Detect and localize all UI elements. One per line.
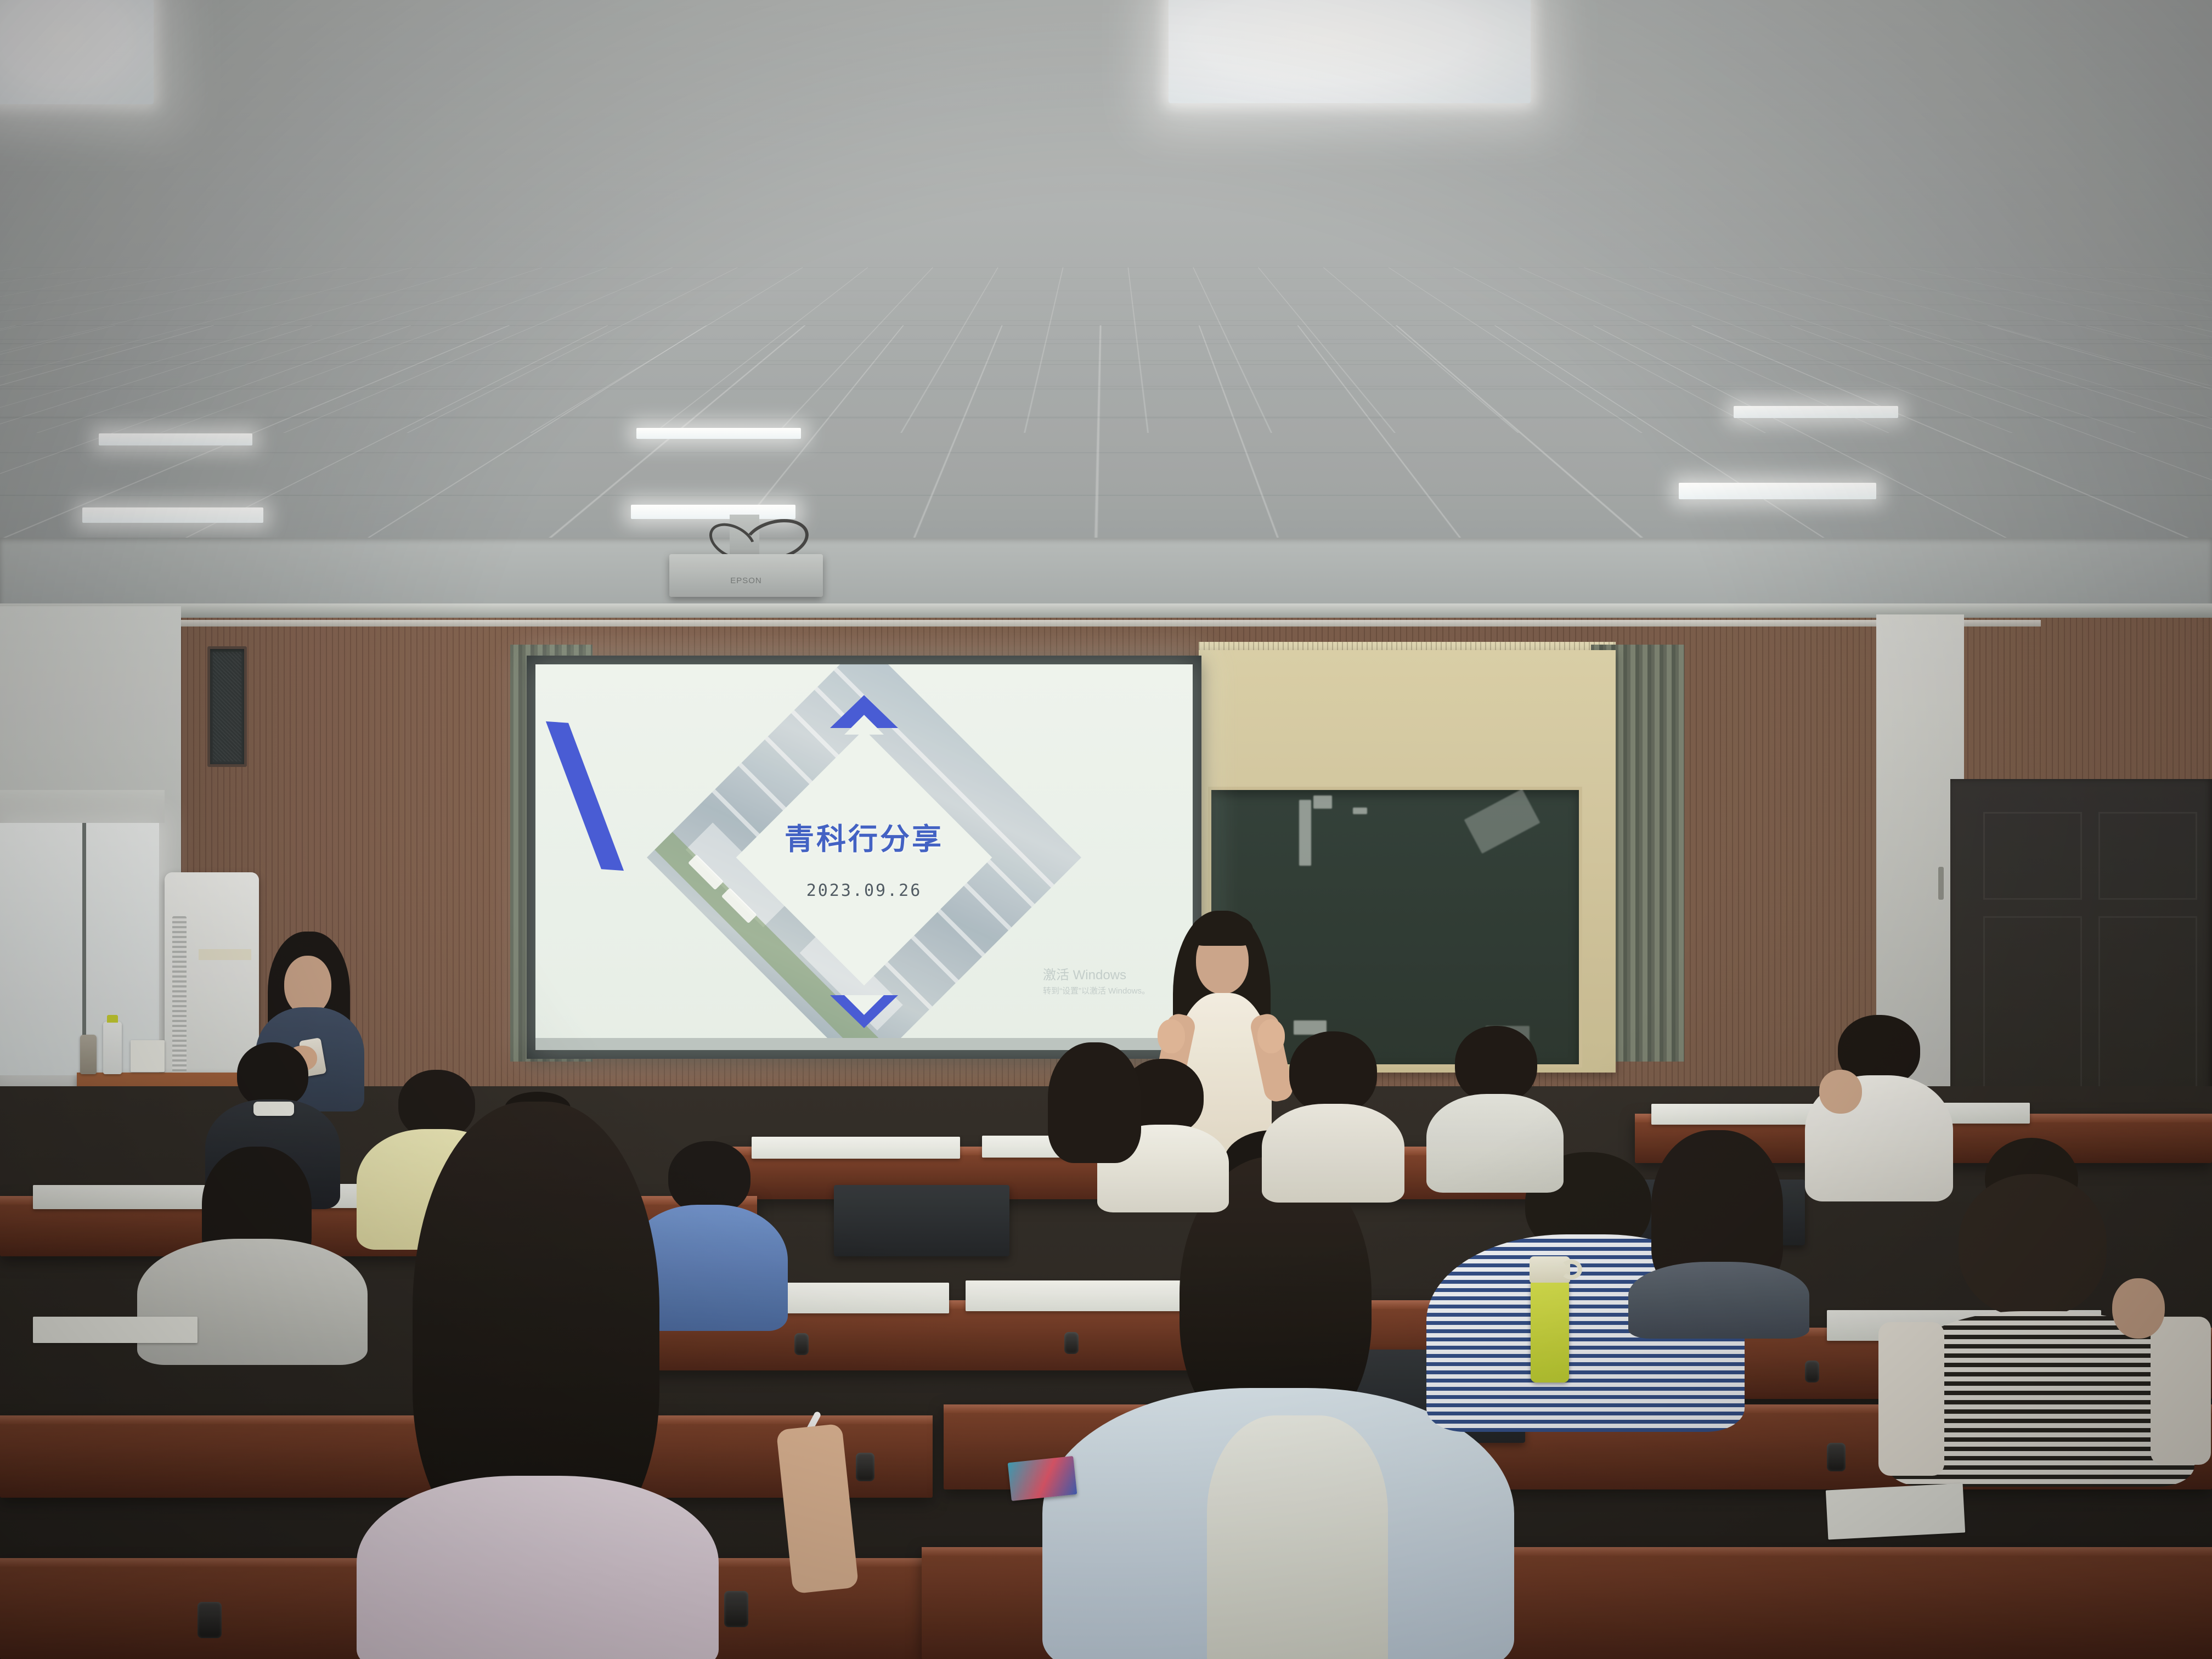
paper-sheet: [33, 1317, 198, 1343]
attendee-midright-b: [1262, 1031, 1404, 1196]
attendee-hand: [2112, 1278, 2165, 1339]
ceiling-strip-light: [1679, 483, 1876, 499]
chalk-smudge: [1353, 808, 1367, 814]
thermos-cup: [80, 1035, 97, 1074]
attendee-head: [1289, 1031, 1377, 1114]
thermos-bottle: [1531, 1278, 1569, 1383]
ceiling-light-panel: [0, 0, 154, 104]
watermark-line-2: 转到“设置”以激活 Windows。: [1043, 985, 1150, 998]
window-blind: [0, 790, 165, 823]
slide-date: 2023.09.26: [535, 881, 1193, 900]
projection-screen: 青科行分享 2023.09.26 激活 Windows 转到“设置”以激活 Wi…: [535, 664, 1193, 1050]
watermark-line-1: 激活 Windows: [1043, 966, 1150, 985]
door-panel: [2098, 812, 2197, 900]
presentation-slide: 青科行分享 2023.09.26 激活 Windows 转到“设置”以激活 Wi…: [535, 664, 1193, 1050]
chalk-smudge: [1299, 800, 1311, 866]
attendee-head: [1455, 1026, 1537, 1103]
attendee-torso: [1628, 1262, 1809, 1339]
ceiling-strip-light: [99, 433, 252, 445]
windows-activation-watermark: 激活 Windows 转到“设置”以激活 Windows。: [1043, 966, 1150, 998]
projection-screen-frame: 青科行分享 2023.09.26 激活 Windows 转到“设置”以激活 Wi…: [527, 656, 1201, 1059]
window-left: [0, 823, 159, 1075]
door-panel: [1983, 812, 2082, 900]
bottle-cap: [107, 1015, 118, 1023]
phone-woman-face: [284, 956, 331, 1015]
speaker-mesh: [213, 652, 241, 761]
ceiling: EPSON: [0, 0, 2212, 636]
attendee-hair: [1048, 1042, 1141, 1163]
attendee-head: [237, 1042, 308, 1108]
thermos-handle: [1560, 1260, 1582, 1279]
ceiling-strip-light: [1734, 406, 1898, 418]
desk-knob: [1805, 1361, 1819, 1383]
attendee-sleeve-right: [2151, 1317, 2211, 1465]
attendee-white-shirt-right: [1799, 1015, 1959, 1196]
slide-chevron-up-cut: [844, 715, 884, 735]
ceiling-strip-light: [636, 428, 801, 439]
slide-chevron-down-cut: [844, 995, 884, 1015]
attendee-torso: [1262, 1104, 1404, 1203]
wall-rail: [176, 620, 2041, 627]
presenter-hand-left: [1158, 1019, 1185, 1053]
water-bottle: [103, 1022, 122, 1074]
attendee-backrow-left: [1031, 1042, 1158, 1190]
attendee-torso: [357, 1476, 719, 1659]
attendee-right-ponytail: [1618, 1130, 1816, 1328]
attendee-sleeve-left: [1878, 1322, 1944, 1476]
desk-knob: [794, 1333, 809, 1355]
desk-knob: [1827, 1443, 1846, 1471]
attendee-head: [1959, 1174, 2107, 1317]
speaker-left-icon: [207, 646, 247, 767]
attendee-long-hair-center: [340, 1092, 735, 1659]
ceiling-light-panel: [1169, 0, 1531, 103]
desk-knob: [198, 1602, 222, 1638]
chalk-smudge: [1464, 789, 1541, 854]
collar: [253, 1102, 294, 1116]
booklet: [1008, 1456, 1077, 1501]
paper-sheet: [1826, 1483, 1965, 1540]
projector-brand-label: EPSON: [730, 576, 762, 585]
presenter-hair-top: [1192, 913, 1253, 946]
ceiling-strip-light: [631, 505, 795, 519]
podium-paper: [131, 1040, 165, 1072]
attendee-torso: [137, 1239, 368, 1365]
attendee-vest: [1207, 1415, 1388, 1659]
attendee-midright-c: [1426, 1026, 1564, 1185]
lecture-hall-photo: EPSON: [0, 0, 2212, 1659]
seat-back: [834, 1185, 1009, 1256]
slide-text-block: 青科行分享 2023.09.26: [535, 815, 1193, 900]
ceiling-strip-light: [82, 507, 263, 523]
slide-title: 青科行分享: [535, 815, 1193, 858]
door-handle[interactable]: [1938, 867, 1944, 900]
projector: EPSON: [669, 554, 823, 597]
desk-knob: [856, 1453, 874, 1481]
attendee-torso: [1426, 1094, 1564, 1193]
ac-vent: [172, 916, 187, 1081]
attendee-hand: [1819, 1070, 1862, 1114]
chalk-smudge: [1313, 795, 1332, 809]
